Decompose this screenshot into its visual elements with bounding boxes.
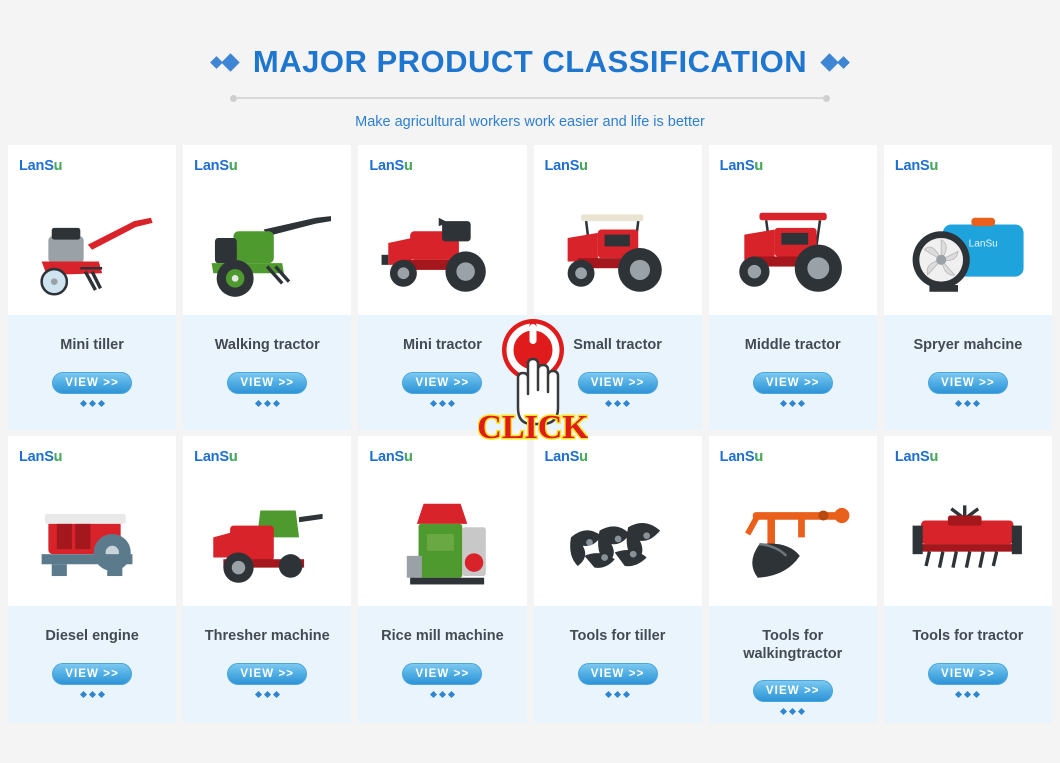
card-dots-decoration — [606, 692, 629, 697]
title-divider — [230, 93, 830, 103]
product-card[interactable]: LanSu Mini tractorVIEW >> — [358, 145, 526, 430]
diesel-engine-illustration — [8, 468, 176, 600]
product-label: Thresher machine — [199, 628, 336, 646]
lansu-logo: LanSu — [545, 449, 588, 465]
view-button[interactable]: VIEW >> — [753, 372, 833, 394]
product-classification-page: MAJOR PRODUCT CLASSIFICATION Make agricu… — [0, 0, 1060, 763]
view-button[interactable]: VIEW >> — [578, 372, 658, 394]
view-button[interactable]: VIEW >> — [227, 663, 307, 685]
thresher-machine-illustration — [183, 468, 351, 600]
card-dots-decoration — [256, 692, 279, 697]
product-card[interactable]: LanSu Tools for tractorVIEW >> — [884, 436, 1052, 723]
product-card[interactable]: LanSu LanSu Spryer mahcineVIEW >> — [884, 145, 1052, 430]
lansu-logo: LanSu — [19, 158, 62, 174]
product-card-footer: Spryer mahcineVIEW >> — [884, 315, 1052, 430]
lansu-logo: LanSu — [194, 158, 237, 174]
lansu-logo: LanSu — [895, 449, 938, 465]
card-dots-decoration — [606, 401, 629, 406]
card-dots-decoration — [781, 401, 804, 406]
middle-tractor-illustration — [709, 177, 877, 309]
product-label: Mini tiller — [54, 337, 130, 355]
small-tractor-illustration — [534, 177, 702, 309]
product-label: Spryer mahcine — [908, 337, 1029, 355]
card-dots-decoration — [81, 692, 104, 697]
product-grid: LanSu Mini tillerVIEW >>LanSu Walking tr… — [8, 145, 1052, 723]
svg-text:LanSu: LanSu — [968, 238, 997, 249]
product-label: Middle tractor — [739, 337, 847, 355]
product-image: LanSu — [8, 145, 176, 315]
product-label: Tools for tiller — [564, 628, 672, 646]
product-image: LanSu — [709, 145, 877, 315]
product-card[interactable]: LanSu Walking tractorVIEW >> — [183, 145, 351, 430]
mini-tractor-illustration — [358, 177, 526, 309]
product-image: LanSu — [709, 436, 877, 606]
view-button[interactable]: VIEW >> — [402, 372, 482, 394]
view-button[interactable]: VIEW >> — [928, 663, 1008, 685]
lansu-logo: LanSu — [720, 158, 763, 174]
product-image: LanSu — [358, 145, 526, 315]
product-card-footer: Mini tillerVIEW >> — [8, 315, 176, 430]
product-card[interactable]: LanSu Tools for walkingtractorVIEW >> — [709, 436, 877, 723]
plough-illustration — [709, 468, 877, 600]
lansu-logo: LanSu — [369, 158, 412, 174]
card-dots-decoration — [431, 401, 454, 406]
lansu-logo: LanSu — [194, 449, 237, 465]
product-card[interactable]: LanSu Mini tillerVIEW >> — [8, 145, 176, 430]
product-label: Tools for walkingtractor — [709, 628, 877, 663]
card-dots-decoration — [956, 401, 979, 406]
sprayer-machine-illustration: LanSu — [884, 177, 1052, 309]
walking-tractor-illustration — [183, 177, 351, 309]
diamond-ornament-left-icon — [212, 56, 237, 69]
diamond-ornament-right-icon — [823, 56, 848, 69]
product-card-footer: Middle tractorVIEW >> — [709, 315, 877, 430]
product-image: LanSu — [534, 145, 702, 315]
view-button[interactable]: VIEW >> — [227, 372, 307, 394]
card-dots-decoration — [956, 692, 979, 697]
product-image: LanSu — [8, 436, 176, 606]
product-label: Tools for tractor — [906, 628, 1029, 646]
rotary-tiller-illustration — [884, 468, 1052, 600]
mini-tiller-illustration — [8, 177, 176, 309]
product-image: LanSu — [183, 436, 351, 606]
product-label: Diesel engine — [39, 628, 144, 646]
page-title: MAJOR PRODUCT CLASSIFICATION — [253, 44, 807, 80]
rice-mill-machine-illustration — [358, 468, 526, 600]
product-card-footer: Small tractorVIEW >> — [534, 315, 702, 430]
product-card-footer: Diesel engineVIEW >> — [8, 606, 176, 723]
product-label: Mini tractor — [397, 337, 488, 355]
product-label: Rice mill machine — [375, 628, 510, 646]
product-card-footer: Rice mill machineVIEW >> — [358, 606, 526, 723]
product-card-footer: Tools for tillerVIEW >> — [534, 606, 702, 723]
card-dots-decoration — [256, 401, 279, 406]
product-label: Walking tractor — [209, 337, 326, 355]
page-header: MAJOR PRODUCT CLASSIFICATION Make agricu… — [0, 0, 1060, 130]
card-dots-decoration — [81, 401, 104, 406]
product-label: Small tractor — [567, 337, 668, 355]
lansu-logo: LanSu — [19, 449, 62, 465]
product-card-footer: Tools for tractorVIEW >> — [884, 606, 1052, 723]
view-button[interactable]: VIEW >> — [928, 372, 1008, 394]
product-card[interactable]: LanSu Middle tractorVIEW >> — [709, 145, 877, 430]
product-image: LanSu — [358, 436, 526, 606]
page-subtitle: Make agricultural workers work easier an… — [0, 114, 1060, 130]
card-dots-decoration — [781, 709, 804, 714]
product-card[interactable]: LanSu Small tractorVIEW >> — [534, 145, 702, 430]
product-card-footer: Mini tractorVIEW >> — [358, 315, 526, 430]
product-card[interactable]: LanSu Diesel engineVIEW >> — [8, 436, 176, 723]
tiller-blades-illustration — [534, 468, 702, 600]
view-button[interactable]: VIEW >> — [52, 663, 132, 685]
view-button[interactable]: VIEW >> — [402, 663, 482, 685]
lansu-logo: LanSu — [369, 449, 412, 465]
title-row: MAJOR PRODUCT CLASSIFICATION — [0, 44, 1060, 80]
lansu-logo: LanSu — [545, 158, 588, 174]
product-card[interactable]: LanSu Rice mill machineVIEW >> — [358, 436, 526, 723]
product-card[interactable]: LanSu Thresher machineVIEW >> — [183, 436, 351, 723]
product-image: LanSu — [534, 436, 702, 606]
product-card-footer: Thresher machineVIEW >> — [183, 606, 351, 723]
product-card[interactable]: LanSu Tools for tillerVIEW >> — [534, 436, 702, 723]
product-image: LanSu — [884, 436, 1052, 606]
view-button[interactable]: VIEW >> — [753, 680, 833, 702]
product-image: LanSu LanSu — [884, 145, 1052, 315]
product-card-footer: Tools for walkingtractorVIEW >> — [709, 606, 877, 723]
product-card-footer: Walking tractorVIEW >> — [183, 315, 351, 430]
view-button[interactable]: VIEW >> — [52, 372, 132, 394]
card-dots-decoration — [431, 692, 454, 697]
lansu-logo: LanSu — [895, 158, 938, 174]
product-image: LanSu — [183, 145, 351, 315]
view-button[interactable]: VIEW >> — [578, 663, 658, 685]
lansu-logo: LanSu — [720, 449, 763, 465]
